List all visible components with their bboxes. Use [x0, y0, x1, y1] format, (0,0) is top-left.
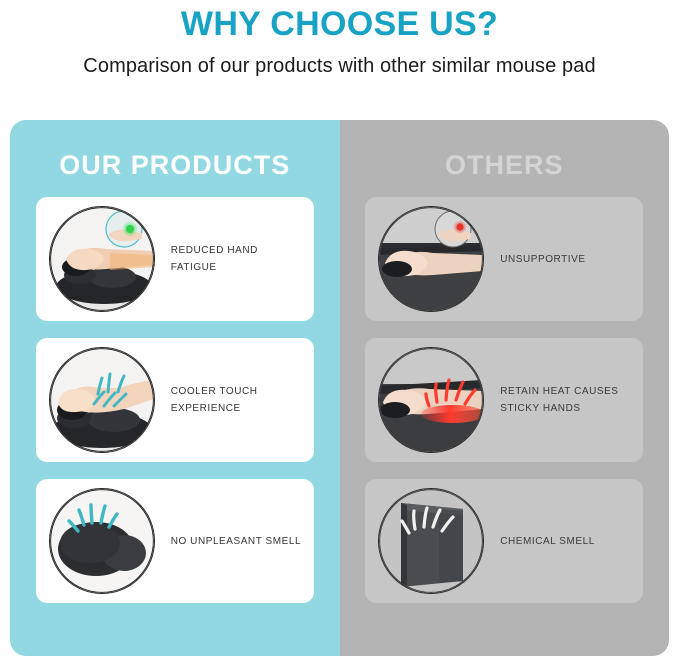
column-title-our-products: OUR PRODUCTS — [59, 150, 290, 181]
card-label: COOLER TOUCH EXPERIENCE — [171, 383, 306, 417]
hand-on-ergonomic-wristrest-green-highlight-icon — [49, 206, 155, 312]
hand-on-wristrest-cool-airflow-icon — [49, 347, 155, 453]
column-title-others: OTHERS — [445, 150, 564, 181]
card-label: NO UNPLEASANT SMELL — [171, 533, 301, 550]
page-subtitle: Comparison of our products with other si… — [0, 54, 679, 78]
card-label: UNSUPPORTIVE — [500, 251, 585, 268]
card-retain-heat-sticky-hands[interactable]: RETAIN HEAT CAUSES STICKY HANDS — [365, 338, 643, 462]
card-chemical-smell[interactable]: CHEMICAL SMELL — [365, 479, 643, 603]
mousepad-fresh-vapor-icon — [49, 488, 155, 594]
card-unsupportive[interactable]: UNSUPPORTIVE — [365, 197, 643, 321]
card-label: REDUCED HAND FATIGUE — [171, 242, 306, 276]
card-label: RETAIN HEAT CAUSES STICKY HANDS — [500, 383, 635, 417]
card-cooler-touch-experience[interactable]: COOLER TOUCH EXPERIENCE — [36, 338, 314, 462]
card-list-our-products: REDUCED HAND FATIGUE — [10, 197, 340, 603]
hand-on-flat-mousepad-heat-waves-icon — [378, 347, 484, 453]
card-list-others: UNSUPPORTIVE — [340, 197, 670, 603]
page-title: WHY CHOOSE US? — [0, 4, 679, 44]
comparison-board: OUR PRODUCTS — [10, 120, 669, 656]
hand-on-flat-mousepad-red-highlight-icon — [378, 206, 484, 312]
card-label: CHEMICAL SMELL — [500, 533, 595, 550]
card-reduced-hand-fatigue[interactable]: REDUCED HAND FATIGUE — [36, 197, 314, 321]
column-our-products: OUR PRODUCTS — [10, 120, 340, 656]
flat-mousepad-chemical-vapor-icon — [378, 488, 484, 594]
column-others: OTHERS — [340, 120, 670, 656]
card-no-unpleasant-smell[interactable]: NO UNPLEASANT SMELL — [36, 479, 314, 603]
